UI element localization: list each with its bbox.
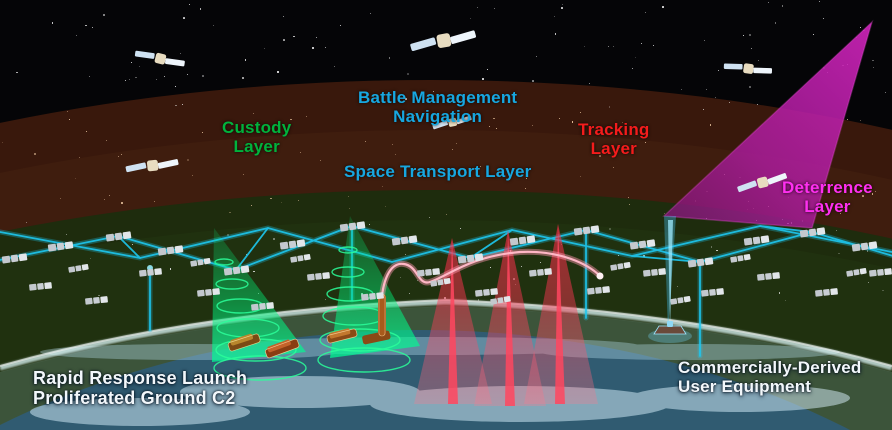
layer-labels: Custody LayerBattle Management Navigatio…: [0, 0, 892, 430]
space-architecture-diagram: Custody LayerBattle Management Navigatio…: [0, 0, 892, 430]
label-deterrence-layer: Deterrence Layer: [782, 178, 873, 216]
label-space-transport-layer: Space Transport Layer: [344, 162, 532, 181]
label-user-equipment: Commercially-Derived User Equipment: [678, 358, 862, 396]
label-ground-segment: Rapid Response Launch Proliferated Groun…: [33, 368, 247, 408]
label-tracking-layer: Tracking Layer: [578, 120, 650, 158]
label-custody-layer: Custody Layer: [222, 118, 291, 156]
label-battle-management: Battle Management Navigation: [358, 88, 517, 126]
